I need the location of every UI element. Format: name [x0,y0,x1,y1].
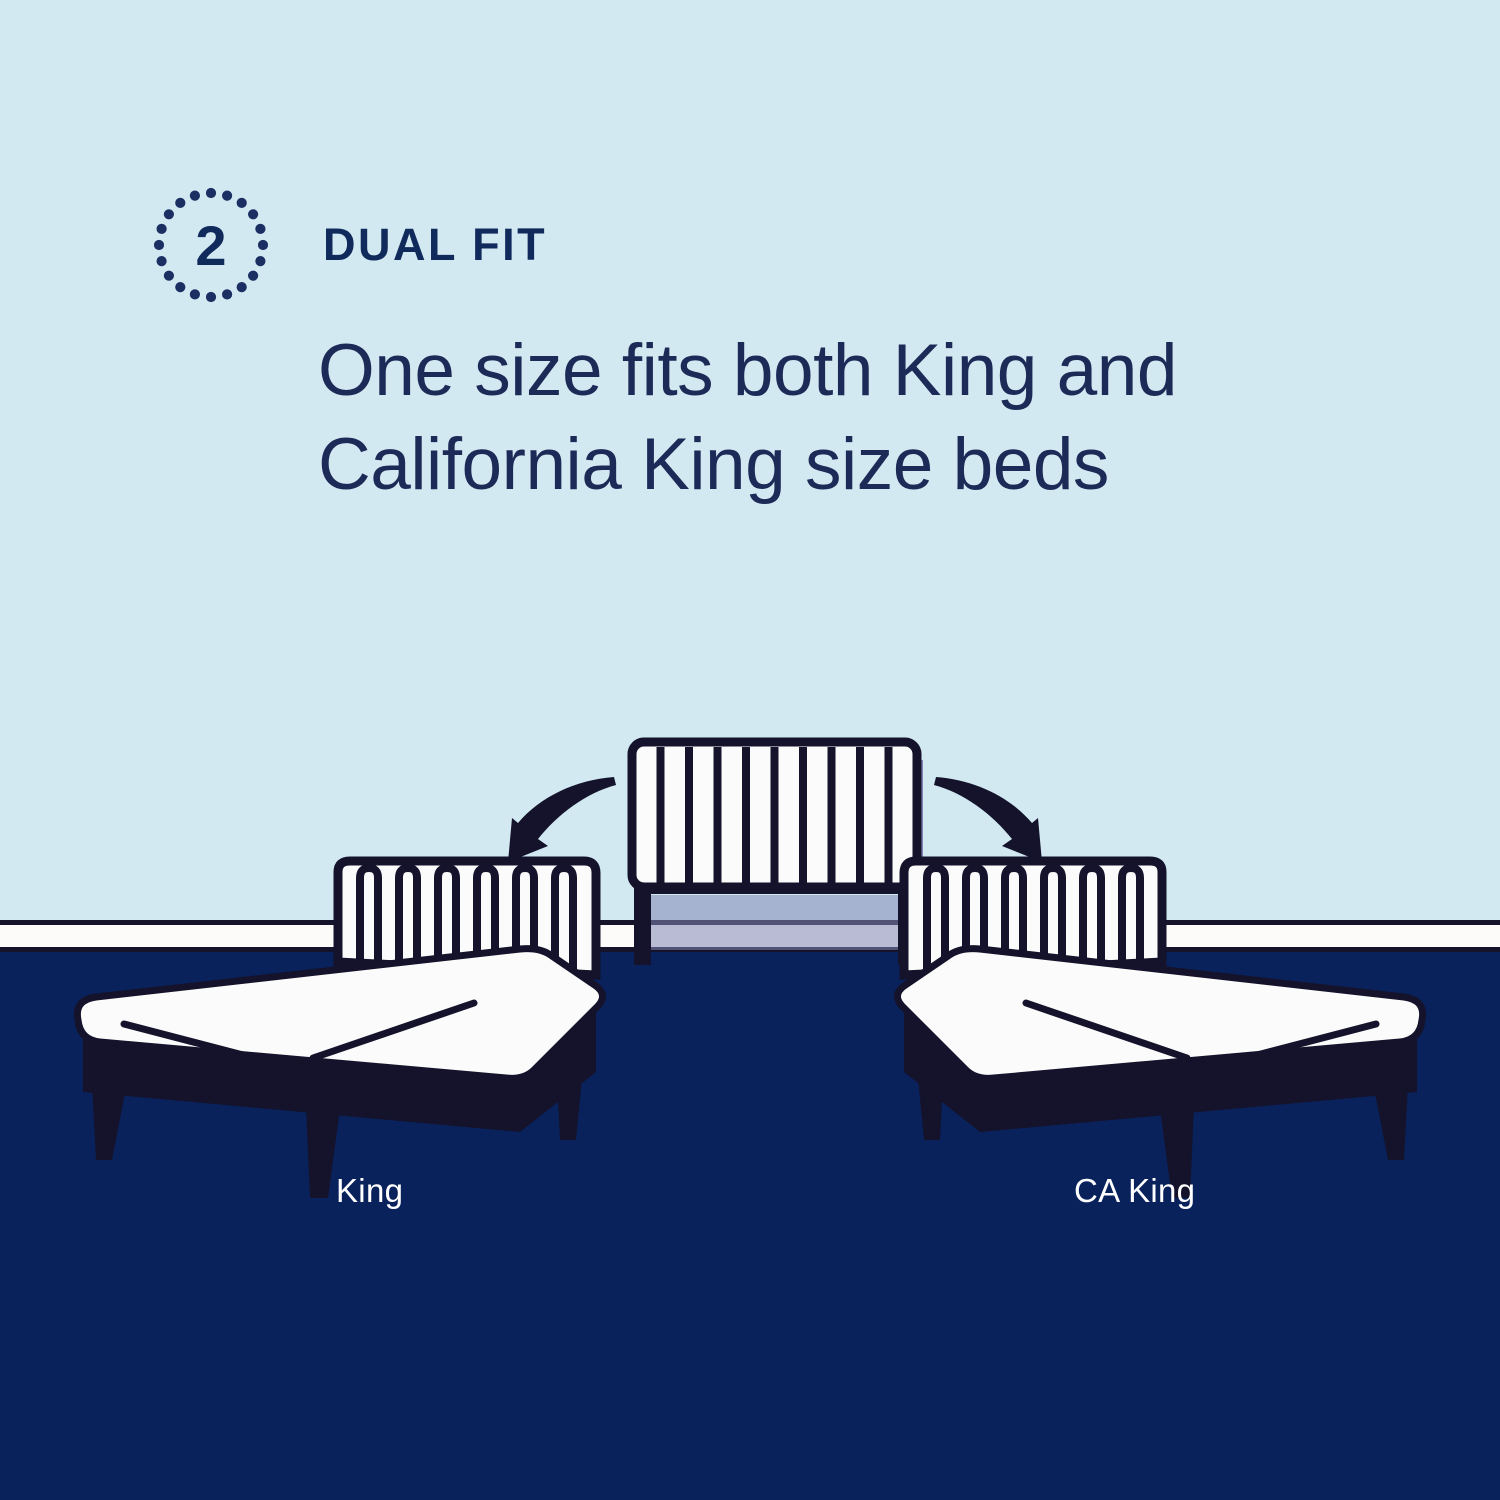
headboard-crossbar [634,880,915,894]
floor-surface [0,952,1500,1500]
headline-line-2: California King size beds [318,418,1378,512]
bed-size-label-ca-king: CA King [1074,1172,1195,1210]
headline: One size fits both King and California K… [318,324,1378,512]
headline-line-1: One size fits both King and [318,324,1378,418]
headboard-channels [661,747,889,883]
section-eyebrow-label: DUAL FIT [323,219,547,271]
headboard-panel [632,742,917,887]
wall-baseboard [0,920,1500,952]
dotted-circle-icon: 2 [152,186,270,304]
headboard-shadow [905,760,923,945]
bed-size-label-king: King [336,1172,403,1210]
step-badge-row: 2 DUAL FIT [152,186,547,304]
dual-fit-infographic: 2 DUAL FIT One size fits both King and C… [0,0,1500,1500]
arrow-right-icon [934,777,1042,862]
arrow-left-icon [508,777,616,862]
step-number: 2 [152,186,270,304]
